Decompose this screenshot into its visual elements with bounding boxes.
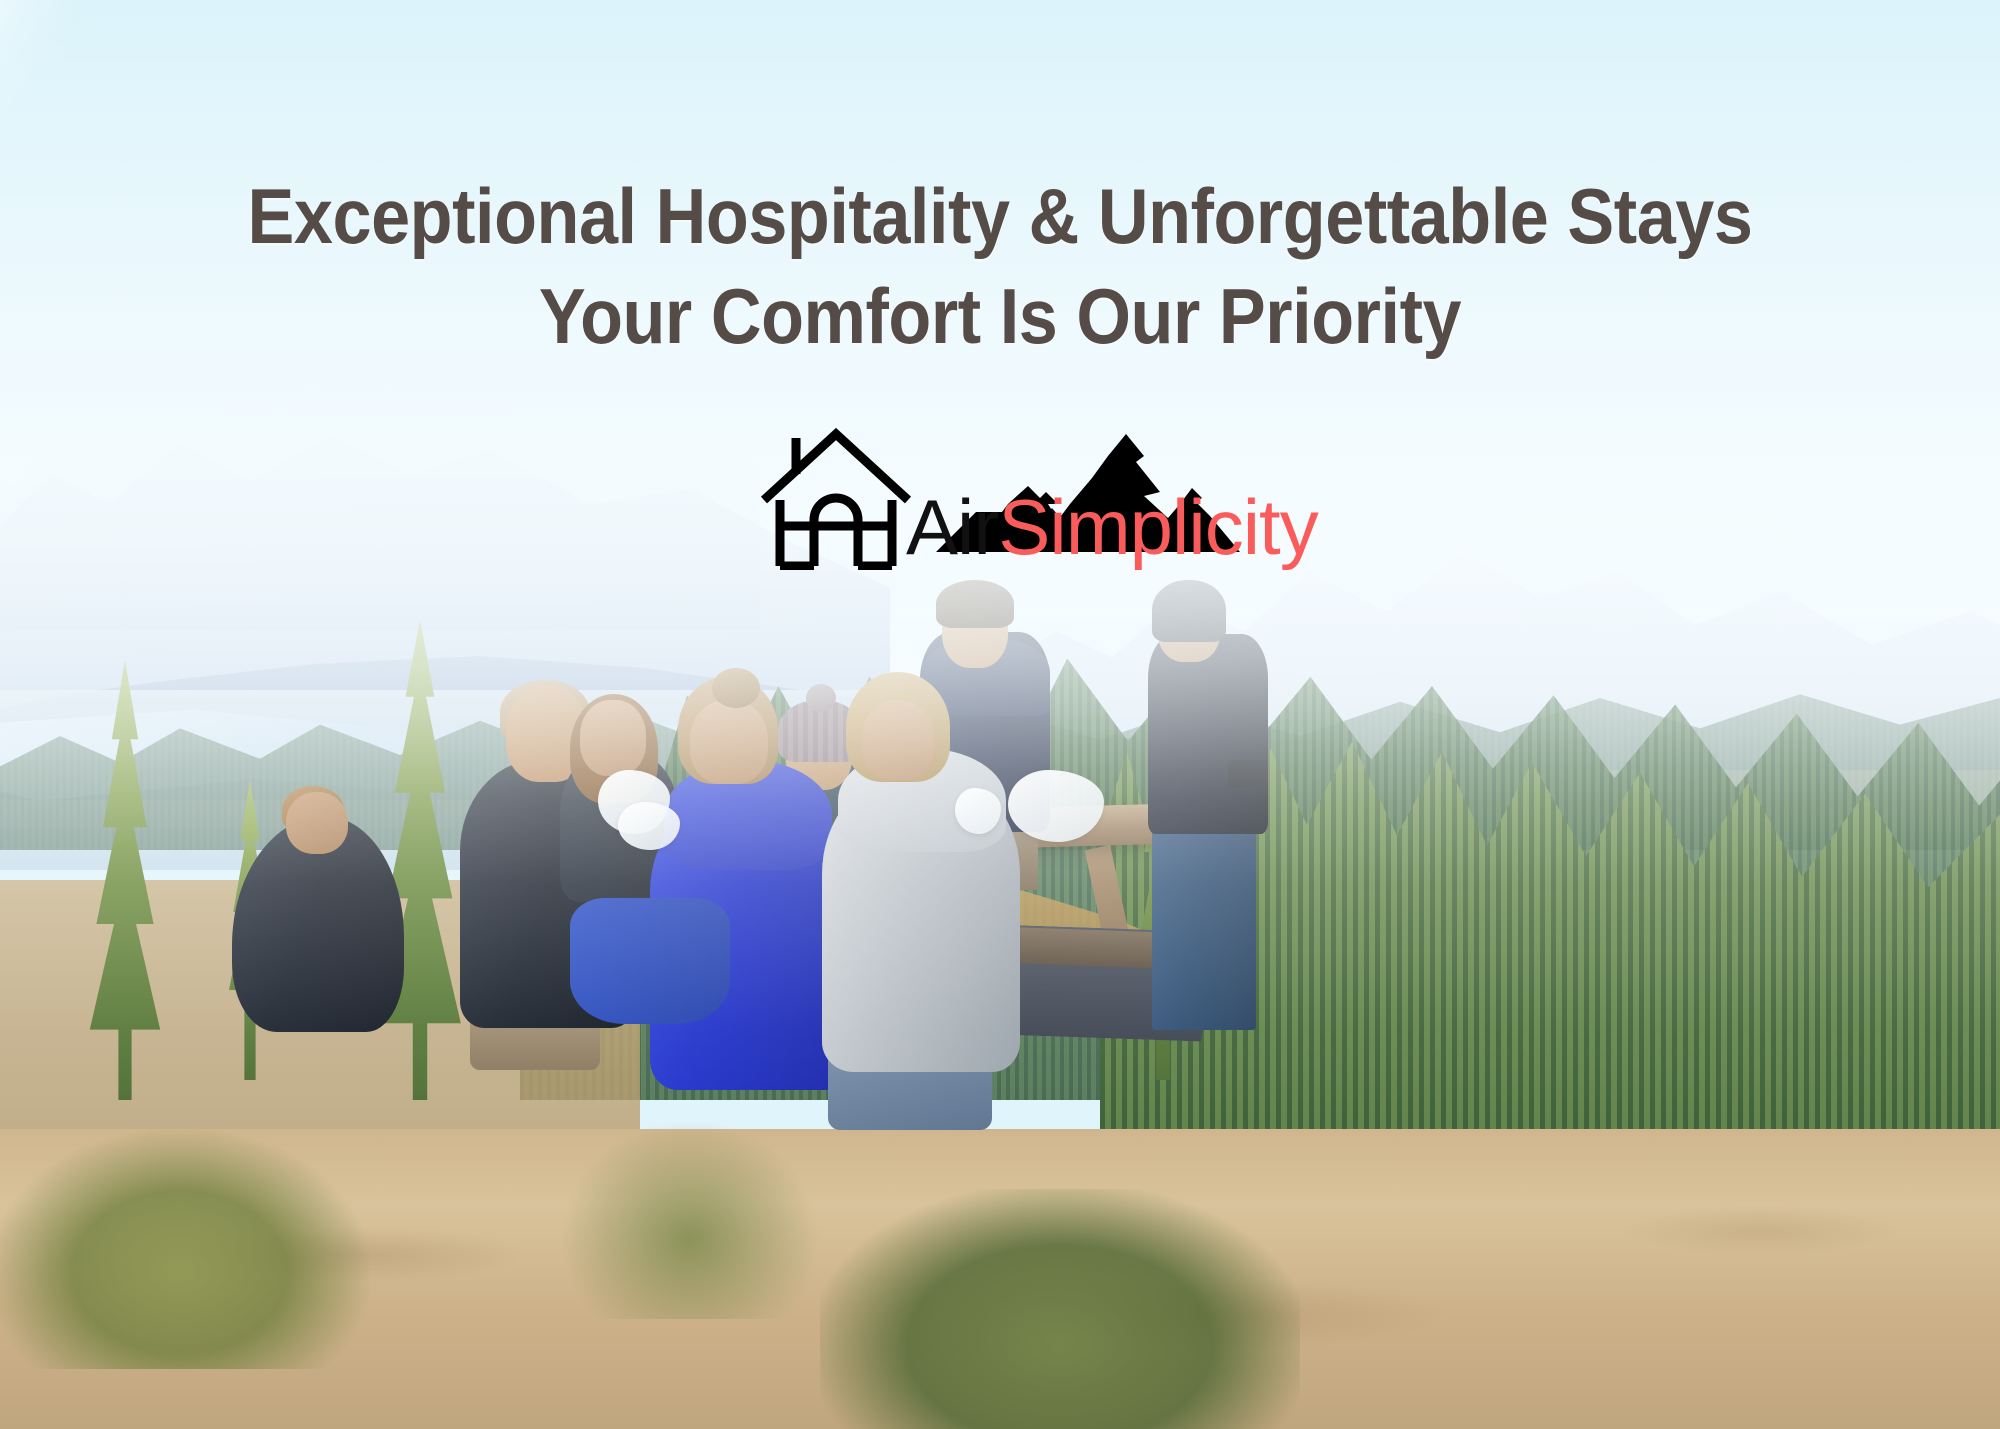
brand-word-air: Air xyxy=(906,483,998,571)
headline-line-1: Exceptional Hospitality & Unforgettable … xyxy=(100,170,1900,262)
page-title: Exceptional Hospitality & Unforgettable … xyxy=(100,170,1900,362)
headline-line-2: Your Comfort Is Our Priority xyxy=(100,270,1900,362)
brand-logo[interactable]: AirSimplicity xyxy=(740,400,1260,570)
hero-content: Exceptional Hospitality & Unforgettable … xyxy=(0,0,2000,1429)
hero-banner: Exceptional Hospitality & Unforgettable … xyxy=(0,0,2000,1429)
brand-wordmark: AirSimplicity xyxy=(906,488,1318,566)
brand-word-simplicity: Simplicity xyxy=(998,483,1317,571)
